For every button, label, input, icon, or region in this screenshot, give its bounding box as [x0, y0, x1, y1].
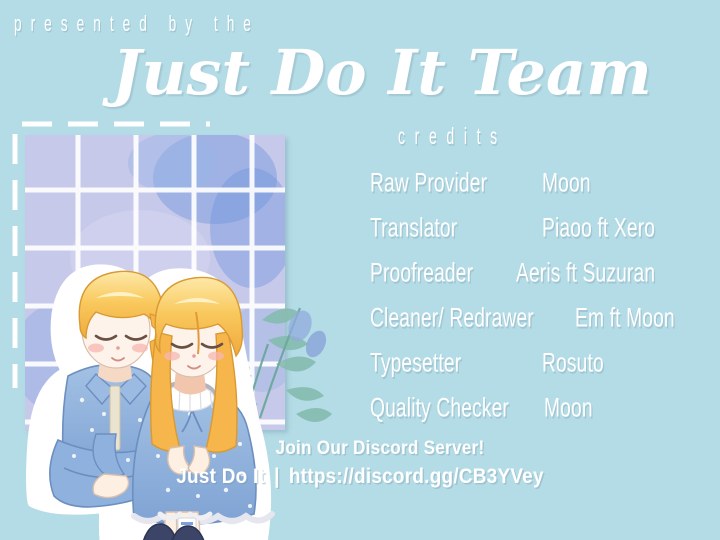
- character-pair: [32, 270, 273, 540]
- table-row: Cleaner/ Redrawer Em ft Moon: [370, 305, 690, 350]
- credit-role: Quality Checker: [370, 394, 509, 425]
- credit-role: Cleaner/ Redrawer: [370, 304, 534, 335]
- credit-value: Aeris ft Suzuran: [516, 259, 655, 290]
- separator: |: [271, 465, 284, 488]
- credit-role: Proofreader: [370, 259, 487, 290]
- table-row: Proofreader Aeris ft Suzuran: [370, 260, 690, 305]
- table-row: Quality Checker Moon: [370, 395, 690, 440]
- credit-value: Rosuto: [542, 349, 661, 380]
- credit-value: Piaoo ft Xero: [542, 214, 661, 245]
- table-row: Translator Piaoo ft Xero: [370, 215, 690, 260]
- credit-role: Typesetter: [370, 349, 507, 380]
- brand-label: Just Do It: [176, 465, 265, 488]
- discord-footer: Join Our Discord Server! Just Do It | ht…: [0, 438, 720, 489]
- credit-value: Em ft Moon: [575, 304, 675, 335]
- discord-link-line: Just Do It | https://discord.gg/CB3YVey: [36, 465, 684, 489]
- table-row: Typesetter Rosuto: [370, 350, 690, 395]
- credit-role: Raw Provider: [370, 169, 507, 200]
- credits-table: Raw Provider Moon Translator Piaoo ft Xe…: [370, 170, 690, 440]
- credits-page: presented by the Just Do It Team: [0, 0, 720, 540]
- discord-invite-label: Join Our Discord Server!: [74, 438, 686, 460]
- credits-heading: credits: [398, 125, 507, 151]
- discord-url-link[interactable]: https://discord.gg/CB3YVey: [289, 465, 544, 488]
- credit-role: Translator: [370, 214, 507, 245]
- team-name-title: Just Do It Team: [112, 28, 612, 114]
- credit-value: Moon: [542, 169, 661, 200]
- team-name-text: Just Do It Team: [102, 36, 652, 109]
- table-row: Raw Provider Moon: [370, 170, 690, 215]
- credit-value: Moon: [544, 394, 661, 425]
